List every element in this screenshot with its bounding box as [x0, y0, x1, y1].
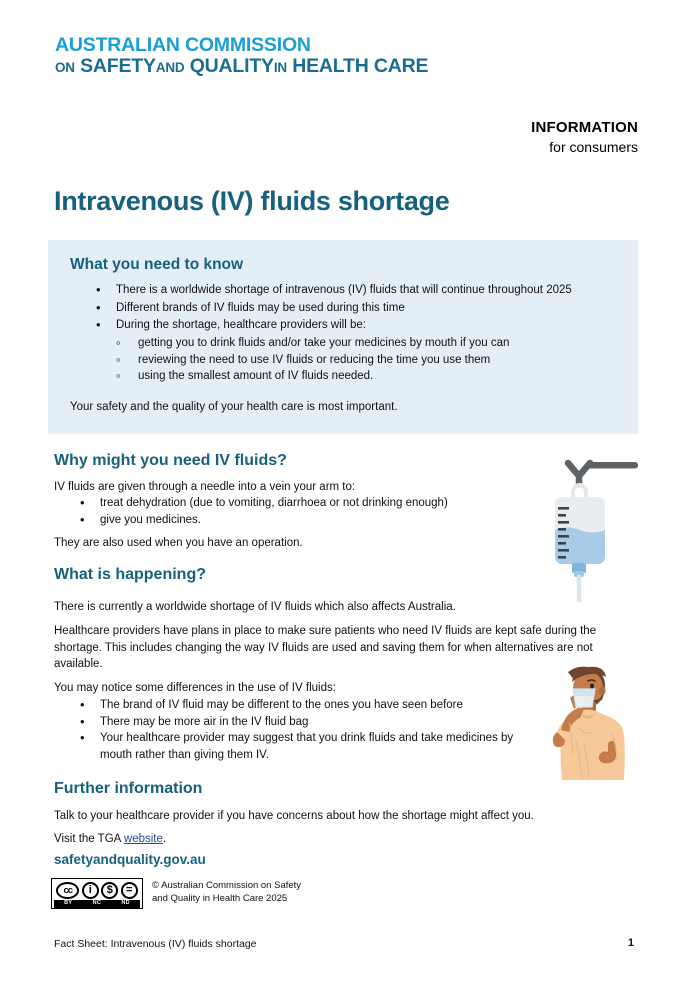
- logo-word-health-care: HEALTH CARE: [292, 55, 428, 77]
- callout-footer-text: Your safety and the quality of your heal…: [70, 399, 618, 415]
- cc-label-by: BY: [64, 901, 72, 907]
- tga-website-link[interactable]: website: [124, 833, 163, 845]
- person-drinking-water-illustration: [524, 662, 644, 780]
- cc-icon-row: cc i $ =: [52, 879, 142, 900]
- list-item: There may be more air in the IV fluid ba…: [78, 714, 548, 731]
- logo-word-safety: SAFETY: [80, 55, 156, 77]
- cc-logo-icon: cc: [56, 882, 79, 899]
- section-heading-what-is-happening: What is happening?: [54, 566, 206, 584]
- copyright-line-2: and Quality in Health Care 2025: [152, 892, 301, 905]
- cc-label-nc: NC: [93, 901, 102, 907]
- logo-word-quality: QUALITY: [190, 55, 274, 77]
- cc-by-icon: i: [82, 882, 99, 899]
- visit-suffix-text: .: [163, 833, 166, 845]
- cc-nc-icon: $: [101, 882, 118, 899]
- logo-word-in: IN: [274, 60, 287, 75]
- list-item: The brand of IV fluid may be different t…: [78, 697, 548, 714]
- fact-sheet-page: AUSTRALIAN COMMISSION ON SAFETYAND QUALI…: [0, 0, 686, 989]
- footer-page-number: 1: [628, 937, 634, 949]
- logo-word-and: AND: [156, 60, 185, 75]
- creative-commons-badge: cc i $ = BY NC ND: [51, 878, 143, 909]
- cc-label-row: BY NC ND: [54, 900, 140, 908]
- cc-nd-icon: =: [121, 882, 138, 899]
- list-item: getting you to drink fluids and/or take …: [114, 335, 618, 352]
- happening-bullet-list: The brand of IV fluid may be different t…: [78, 697, 548, 764]
- happening-para-1: There is currently a worldwide shortage …: [54, 599, 614, 616]
- organisation-logo: AUSTRALIAN COMMISSION ON SAFETYAND QUALI…: [55, 36, 428, 77]
- what-you-need-to-know-box: What you need to know There is a worldwi…: [48, 240, 638, 434]
- list-item: reviewing the need to use IV fluids or r…: [114, 352, 618, 369]
- list-item: using the smallest amount of IV fluids n…: [114, 368, 618, 385]
- list-item: give you medicines.: [78, 512, 548, 529]
- cc-label-nd: ND: [121, 901, 130, 907]
- information-block: INFORMATION for consumers: [531, 118, 638, 156]
- information-title: INFORMATION: [531, 118, 638, 138]
- callout-sub-bullet-list: getting you to drink fluids and/or take …: [114, 335, 618, 385]
- list-item: treat dehydration (due to vomiting, diar…: [78, 495, 548, 512]
- happening-para-3: You may notice some differences in the u…: [54, 680, 554, 697]
- why-section-bullet-list: treat dehydration (due to vomiting, diar…: [78, 495, 548, 528]
- information-subtitle: for consumers: [531, 138, 638, 156]
- copyright-line-1: © Australian Commission on Safety: [152, 879, 301, 892]
- logo-line-1: AUSTRALIAN COMMISSION: [55, 36, 428, 56]
- iv-fluid-bag-illustration: [508, 452, 638, 602]
- why-section-intro: IV fluids are given through a needle int…: [54, 479, 524, 496]
- callout-bullet-list: There is a worldwide shortage of intrave…: [94, 282, 618, 334]
- organisation-website-url[interactable]: safetyandquality.gov.au: [54, 852, 206, 867]
- further-para-1: Talk to your healthcare provider if you …: [54, 808, 624, 825]
- list-item: Different brands of IV fluids may be use…: [94, 300, 618, 317]
- list-item: There is a worldwide shortage of intrave…: [94, 282, 618, 299]
- logo-line-2: ON SAFETYAND QUALITYIN HEALTH CARE: [55, 57, 428, 77]
- page-title: Intravenous (IV) fluids shortage: [54, 186, 449, 217]
- logo-word-on: ON: [55, 60, 75, 75]
- why-section-closing: They are also used when you have an oper…: [54, 535, 524, 552]
- visit-prefix-text: Visit the TGA: [54, 833, 124, 845]
- list-item: Your healthcare provider may suggest tha…: [78, 730, 548, 763]
- section-heading-why-iv-fluids: Why might you need IV fluids?: [54, 452, 287, 470]
- list-item: During the shortage, healthcare provider…: [94, 317, 618, 334]
- footer-divider: [48, 928, 638, 929]
- callout-heading: What you need to know: [70, 256, 618, 274]
- further-visit-line: Visit the TGA website.: [54, 831, 454, 848]
- footer-document-title: Fact Sheet: Intravenous (IV) fluids shor…: [54, 938, 257, 950]
- copyright-notice: © Australian Commission on Safety and Qu…: [152, 879, 301, 906]
- section-heading-further-information: Further information: [54, 780, 202, 798]
